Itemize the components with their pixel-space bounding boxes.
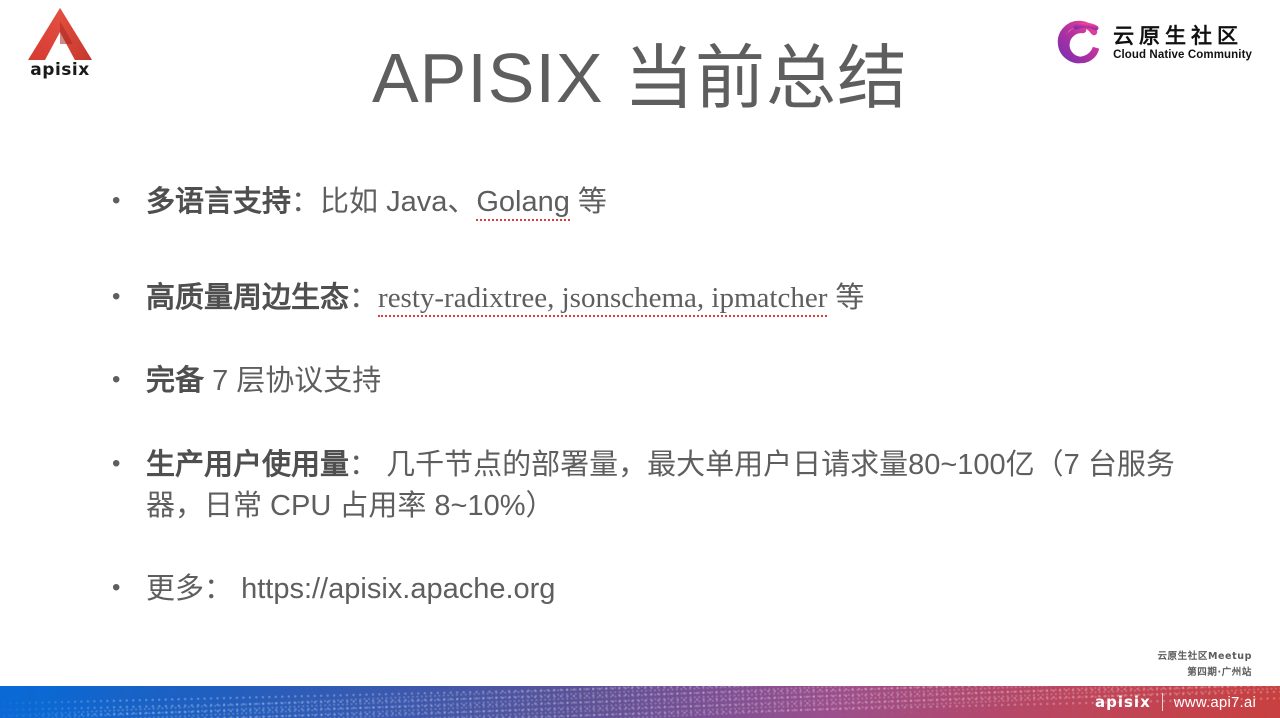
bullet-body: 比如 Java、 — [320, 186, 476, 218]
bullet-label: 更多： — [146, 573, 233, 605]
bullet-tail: 等 — [570, 186, 607, 218]
meetup-caption: 云原生社区Meetup 第四期·广州站 — [1157, 649, 1252, 682]
bullet-text: 多语言支持：比如 Java、Golang 等 — [146, 182, 1210, 223]
bullet-dot-icon: • — [112, 445, 146, 484]
footer-brand: apisix www.api7.ai — [1095, 686, 1256, 718]
list-item: • 多语言支持：比如 Java、Golang 等 — [112, 182, 1210, 223]
spacer — [112, 527, 1210, 569]
footer-fade — [0, 686, 120, 718]
footer-url[interactable]: www.api7.ai — [1174, 694, 1256, 711]
bullet-label: 生产用户使用量 — [146, 449, 349, 481]
bullet-dot-icon: • — [112, 182, 146, 221]
footer-apisix-wordmark: apisix — [1095, 693, 1151, 711]
list-item: • 高质量周边生态：resty-radixtree, jsonschema, i… — [112, 278, 1210, 319]
bullet-label: 多语言支持 — [146, 186, 291, 218]
bullet-dot-icon: • — [112, 278, 146, 317]
bullet-separator: ： — [349, 282, 378, 314]
meetup-line-1: 云原生社区Meetup — [1157, 649, 1252, 666]
list-item: • 完备 7 层协议支持 — [112, 361, 1210, 402]
page-title: APISIX 当前总结 — [0, 22, 1280, 123]
misspelled-word: Golang — [476, 186, 570, 221]
bullet-dot-icon: • — [112, 569, 146, 608]
bullet-link[interactable]: https://apisix.apache.org — [233, 573, 555, 605]
misspelled-word: resty-radixtree, jsonschema, ipmatcher — [378, 282, 827, 317]
footer-bar: apisix www.api7.ai — [0, 686, 1280, 718]
bullet-separator: ： — [291, 186, 320, 218]
bullet-list: • 多语言支持：比如 Java、Golang 等 • 高质量周边生态：resty… — [112, 182, 1210, 610]
bullet-text: 更多： https://apisix.apache.org — [146, 569, 1210, 610]
spacer — [112, 403, 1210, 445]
bullet-text: 高质量周边生态：resty-radixtree, jsonschema, ipm… — [146, 278, 1210, 319]
bullet-tail: 7 层协议支持 — [204, 365, 381, 397]
spacer — [112, 319, 1210, 361]
spacer — [112, 223, 1210, 278]
slide-canvas: apisix 云原生社区 Cloud Native Community APIS… — [0, 0, 1280, 718]
list-item: • 生产用户使用量： 几千节点的部署量，最大单用户日请求量80~100亿（7 台… — [112, 445, 1210, 527]
bullet-label: 完备 — [146, 365, 204, 397]
meetup-line-2: 第四期·广州站 — [1157, 665, 1252, 682]
list-item: • 更多： https://apisix.apache.org — [112, 569, 1210, 610]
bullet-dot-icon: • — [112, 361, 146, 400]
bullet-text: 完备 7 层协议支持 — [146, 361, 1210, 402]
footer-divider — [1162, 693, 1163, 711]
bullet-text: 生产用户使用量： 几千节点的部署量，最大单用户日请求量80~100亿（7 台服务… — [146, 445, 1210, 527]
bullet-separator: ： — [349, 449, 378, 481]
bullet-tail: 等 — [827, 282, 864, 314]
bullet-label: 高质量周边生态 — [146, 282, 349, 314]
